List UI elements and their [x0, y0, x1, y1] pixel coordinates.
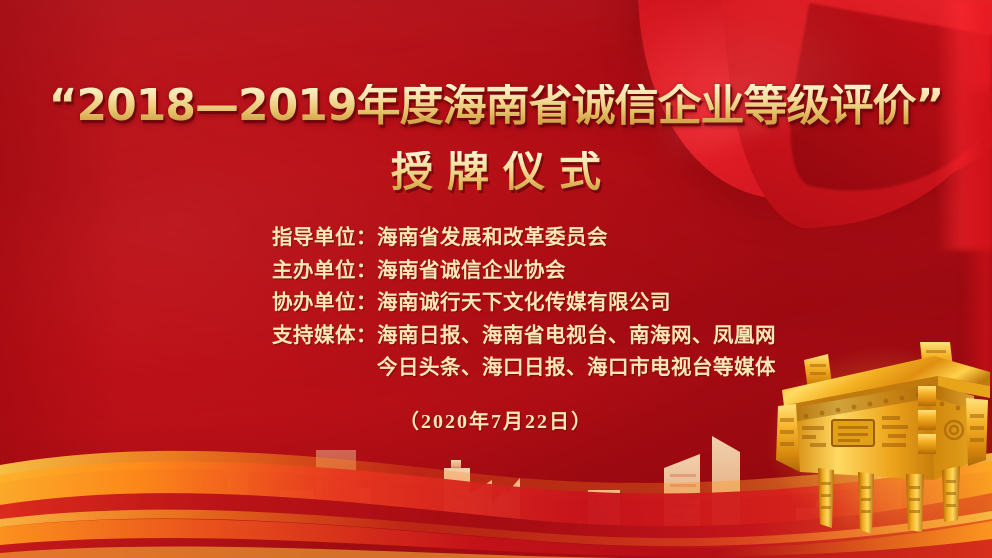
credit-line-media: 支持媒体：海南日报、海南省电视台、南海网、凤凰网	[272, 320, 792, 353]
credits-block: 指导单位：海南省发展和改革委员会 主办单位：海南省诚信企业协会 协办单位：海南诚…	[272, 222, 792, 385]
credit-line-guidance: 指导单位：海南省发展和改革委员会	[272, 222, 792, 255]
page-title: “2018—2019年度海南省诚信企业等级评价”	[0, 84, 992, 128]
credit-line-co-organizer: 协办单位：海南诚行天下文化传媒有限公司	[272, 287, 792, 320]
credit-line-media-continued: 今日头条、海口日报、海口市电视台等媒体	[272, 352, 792, 385]
credit-line-organizer: 主办单位：海南省诚信企业协会	[272, 255, 792, 288]
banner-poster: “2018—2019年度海南省诚信企业等级评价” 授牌仪式 指导单位：海南省发展…	[0, 0, 992, 558]
page-subtitle: 授牌仪式	[0, 151, 992, 193]
event-date: （2020年7月22日）	[0, 405, 992, 434]
